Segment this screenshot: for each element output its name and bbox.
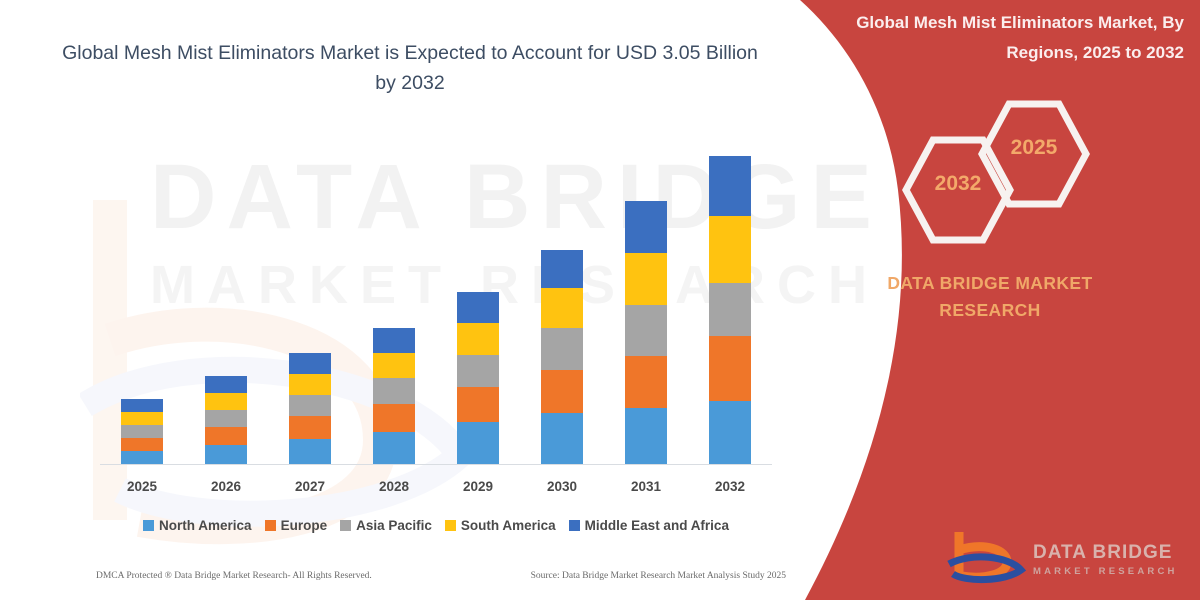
bar-2031	[625, 201, 667, 464]
year-badges: 2032 2025	[780, 98, 1200, 218]
svg-text:DATA BRIDGE: DATA BRIDGE	[1033, 542, 1172, 563]
x-axis-label: 2032	[709, 479, 751, 494]
x-axis-label: 2028	[373, 479, 415, 494]
bar-segment	[373, 353, 415, 378]
bar-segment	[709, 216, 751, 283]
right-panel-title: Global Mesh Mist Eliminators Market, By …	[794, 8, 1184, 68]
x-axis-label: 2030	[541, 479, 583, 494]
bar-segment	[121, 425, 163, 438]
bar-segment	[205, 445, 247, 464]
bar-segment	[289, 439, 331, 464]
bar-segment	[541, 413, 583, 464]
bar-2030	[541, 250, 583, 464]
x-axis-label: 2029	[457, 479, 499, 494]
data-bridge-logo-icon: DATA BRIDGE MARKET RESEARCH	[945, 528, 1185, 588]
bar-segment	[121, 399, 163, 412]
bar-segment	[121, 438, 163, 451]
bar-2027	[289, 353, 331, 464]
legend-item[interactable]: Europe	[265, 518, 328, 533]
legend-label: Middle East and Africa	[585, 518, 729, 533]
bar-segment	[373, 378, 415, 404]
legend-item[interactable]: Middle East and Africa	[569, 518, 729, 533]
bar-segment	[625, 408, 667, 464]
infographic-canvas: DATA BRIDGE MARKET RESEARCH Global Mesh …	[0, 0, 1200, 600]
bar-segment	[625, 305, 667, 356]
x-axis-label: 2031	[625, 479, 667, 494]
legend-swatch-icon	[340, 520, 351, 531]
legend-label: Europe	[281, 518, 328, 533]
legend-label: Asia Pacific	[356, 518, 432, 533]
brand-line-1: DATA BRIDGE MARKET	[800, 270, 1180, 297]
x-axis-labels: 20252026202720282029203020312032	[100, 474, 772, 498]
bar-segment	[625, 253, 667, 305]
legend-item[interactable]: Asia Pacific	[340, 518, 432, 533]
legend-label: South America	[461, 518, 556, 533]
bar-segment	[709, 401, 751, 464]
bar-2026	[205, 376, 247, 464]
x-axis-label: 2025	[121, 479, 163, 494]
bar-segment	[121, 451, 163, 464]
bar-segment	[289, 353, 331, 374]
chart-legend: North AmericaEuropeAsia PacificSouth Ame…	[100, 512, 772, 538]
legend-swatch-icon	[265, 520, 276, 531]
x-axis-label: 2027	[289, 479, 331, 494]
footer-copyright: DMCA Protected ® Data Bridge Market Rese…	[96, 571, 372, 581]
bar-segment	[709, 283, 751, 336]
bar-segment	[625, 201, 667, 253]
brand-text: DATA BRIDGE MARKET RESEARCH	[800, 270, 1180, 324]
bar-segment	[205, 376, 247, 393]
bar-segment	[373, 404, 415, 432]
page-title: Global Mesh Mist Eliminators Market is E…	[60, 38, 760, 98]
bar-segment	[289, 374, 331, 395]
bar-segment	[541, 288, 583, 328]
bar-segment	[457, 387, 499, 422]
bar-2028	[373, 328, 415, 464]
bar-segment	[541, 370, 583, 413]
bar-segment	[457, 323, 499, 355]
bar-segment	[373, 328, 415, 353]
bar-segment	[289, 395, 331, 416]
x-axis-label: 2026	[205, 479, 247, 494]
bar-segment	[205, 427, 247, 445]
footer-source: Source: Data Bridge Market Research Mark…	[531, 571, 786, 581]
x-axis-line	[100, 464, 772, 465]
bar-segment	[625, 356, 667, 408]
right-panel: Global Mesh Mist Eliminators Market, By …	[780, 0, 1200, 600]
bar-2032	[709, 156, 751, 464]
bar-segment	[205, 393, 247, 410]
stacked-bar-chart	[100, 130, 772, 464]
legend-swatch-icon	[143, 520, 154, 531]
footer: DMCA Protected ® Data Bridge Market Rese…	[96, 568, 786, 584]
legend-item[interactable]: South America	[445, 518, 556, 533]
legend-item[interactable]: North America	[143, 518, 252, 533]
legend-swatch-icon	[445, 520, 456, 531]
bar-segment	[709, 336, 751, 401]
bar-2025	[121, 399, 163, 464]
bar-segment	[457, 355, 499, 387]
legend-label: North America	[159, 518, 252, 533]
bar-2029	[457, 292, 499, 464]
bar-segment	[205, 410, 247, 427]
legend-swatch-icon	[569, 520, 580, 531]
bar-segment	[709, 156, 751, 216]
svg-text:MARKET RESEARCH: MARKET RESEARCH	[1033, 566, 1178, 577]
bar-segment	[373, 432, 415, 464]
brand-line-2: RESEARCH	[800, 297, 1180, 324]
bar-segment	[121, 412, 163, 425]
bar-segment	[541, 250, 583, 288]
bar-segment	[457, 292, 499, 323]
bar-segment	[457, 422, 499, 464]
hexagon-2025-label: 2025	[976, 136, 1092, 160]
bar-segment	[541, 328, 583, 370]
bar-segment	[289, 416, 331, 439]
